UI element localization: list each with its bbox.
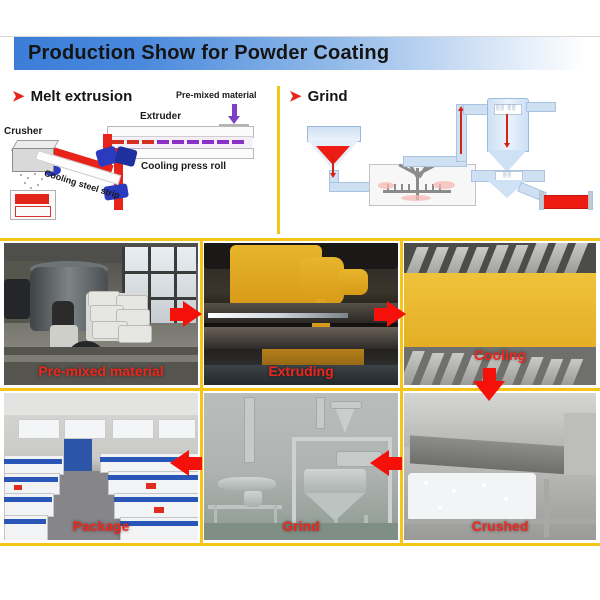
chip-speck [452, 489, 456, 493]
photo-package: Package [4, 393, 198, 540]
product-tray [541, 195, 591, 209]
equipment-drum [4, 279, 30, 319]
photo-crushed: Crushed [404, 393, 596, 540]
package-box [4, 455, 64, 475]
grid-line-top [0, 238, 600, 241]
collection-bin-label [15, 206, 51, 217]
feed-arrow-head-icon [228, 116, 240, 124]
mill-tooth [401, 184, 403, 191]
photo-extruding: Extruding [204, 243, 398, 385]
photo-pre-mixed-material: Pre-mixed material [4, 243, 198, 385]
grid-line-vertical-1 [200, 238, 203, 543]
screw-segment [202, 140, 214, 144]
powder-dot [37, 184, 39, 186]
diagram-row: ➤ Melt extrusion Pre-mixed material Extr… [0, 78, 600, 238]
chip-speck [482, 483, 486, 487]
caption-crushed: Crushed [404, 518, 596, 534]
warehouse-window [112, 419, 154, 439]
warehouse-window [158, 419, 196, 439]
screw-segment [142, 140, 154, 144]
cyclone-outlet-duct [526, 102, 556, 112]
photo-cooling: Cooling [404, 243, 596, 385]
mill-dust [433, 181, 455, 189]
window-mullion [122, 271, 196, 274]
floor-edge [4, 355, 198, 362]
slide-canvas: Production Show for Powder Coating ➤ Mel… [0, 0, 600, 600]
work-table [208, 505, 282, 509]
lower-belt [204, 327, 398, 349]
cyclone-flow-arrow [506, 114, 508, 144]
powder-dot [41, 178, 43, 180]
cyclone-inlet [330, 401, 362, 409]
grid-line-bottom [0, 543, 600, 546]
grind-flow-arrow-1-tip-icon [330, 173, 336, 178]
machine-frame-top [292, 437, 392, 441]
box-band [4, 477, 58, 482]
photo-grind: Grind [204, 393, 398, 540]
caption-cooling: Cooling [404, 347, 596, 363]
warehouse-window [18, 419, 60, 439]
warehouse-window [64, 419, 106, 439]
grid-line-middle [0, 388, 600, 391]
cooled-powder-sheet [404, 273, 596, 351]
melt-extrusion-label: Melt extrusion [31, 88, 133, 105]
box-marking [154, 507, 164, 513]
belt-highlight [208, 313, 348, 318]
molten-powder-lobe [338, 269, 368, 295]
box-band [4, 497, 52, 502]
crusher-side-panel [564, 413, 596, 475]
label-pre-mixed-material: Pre-mixed material [176, 90, 257, 100]
chip-speck [504, 497, 508, 501]
chip-speck [438, 505, 442, 509]
screw-segment [232, 140, 244, 144]
collection-bin-material [15, 194, 49, 204]
sample-container [244, 491, 262, 507]
cyclone-flow-arrow-tip-icon [504, 143, 510, 148]
caption-extruding: Extruding [204, 363, 398, 379]
screw-segment [157, 140, 169, 144]
powder-dot [20, 174, 22, 176]
mill-tooth [408, 184, 410, 191]
tray-edge-right [588, 191, 593, 210]
box-marking [14, 485, 22, 490]
screw-segment [217, 140, 229, 144]
screw-segment [127, 140, 139, 144]
grinder-vessel [304, 469, 366, 495]
crushed-chips-pile [408, 473, 536, 521]
cyclone-cone [487, 150, 527, 172]
grind-panel: ➤ Grind [283, 78, 600, 238]
vertical-duct [244, 397, 255, 463]
screw-segment [112, 140, 124, 144]
mill-dust [401, 195, 431, 201]
diagram-vertical-divider [277, 86, 280, 234]
caption-grind: Grind [204, 518, 398, 534]
bullet-arrow-icon: ➤ [12, 89, 25, 104]
mill-tooth [394, 184, 396, 191]
box-marking [146, 483, 156, 489]
screw-segment [172, 140, 184, 144]
powder-dot [24, 182, 26, 184]
grid-line-vertical-2 [400, 238, 403, 543]
grind-label: Grind [308, 88, 348, 105]
mill-dust [378, 182, 394, 189]
grind-flow-arrow-2 [460, 110, 462, 154]
cyclone-unit [334, 405, 356, 433]
title-banner: Production Show for Powder Coating [14, 37, 586, 70]
grind-flow-arrow-1 [332, 152, 334, 174]
label-crusher: Crusher [4, 126, 42, 137]
grinder-cone [305, 493, 365, 521]
sieve-window-marks: ▒▒ [503, 172, 512, 178]
collection-pan [218, 477, 276, 491]
mill-tooth [425, 184, 427, 191]
melt-extrusion-panel: ➤ Melt extrusion Pre-mixed material Extr… [0, 78, 277, 238]
material-bag [118, 325, 152, 343]
page-title: Production Show for Powder Coating [14, 42, 389, 65]
chip-speck [424, 481, 428, 485]
melt-extrusion-heading: ➤ Melt extrusion [12, 88, 132, 105]
box-band [4, 459, 62, 464]
bullet-arrow-icon: ➤ [289, 89, 302, 104]
powder-dot [30, 187, 32, 189]
powder-dot [27, 177, 29, 179]
label-extruder: Extruder [140, 111, 181, 122]
caption-package: Package [4, 518, 198, 534]
support-pipe [316, 397, 325, 429]
caption-pre-mixed-material: Pre-mixed material [4, 363, 198, 379]
label-cooling-press-roll: Cooling press roll [141, 161, 226, 172]
box-band [114, 497, 198, 502]
warehouse-door [64, 439, 92, 471]
powder-dot [34, 173, 36, 175]
ceiling [4, 393, 198, 415]
tray-edge-left [539, 191, 544, 210]
grind-heading: ➤ Grind [289, 88, 348, 105]
cyclone-window-marks: ▒▒ ▒▒ [496, 105, 517, 111]
screw-segment [187, 140, 199, 144]
